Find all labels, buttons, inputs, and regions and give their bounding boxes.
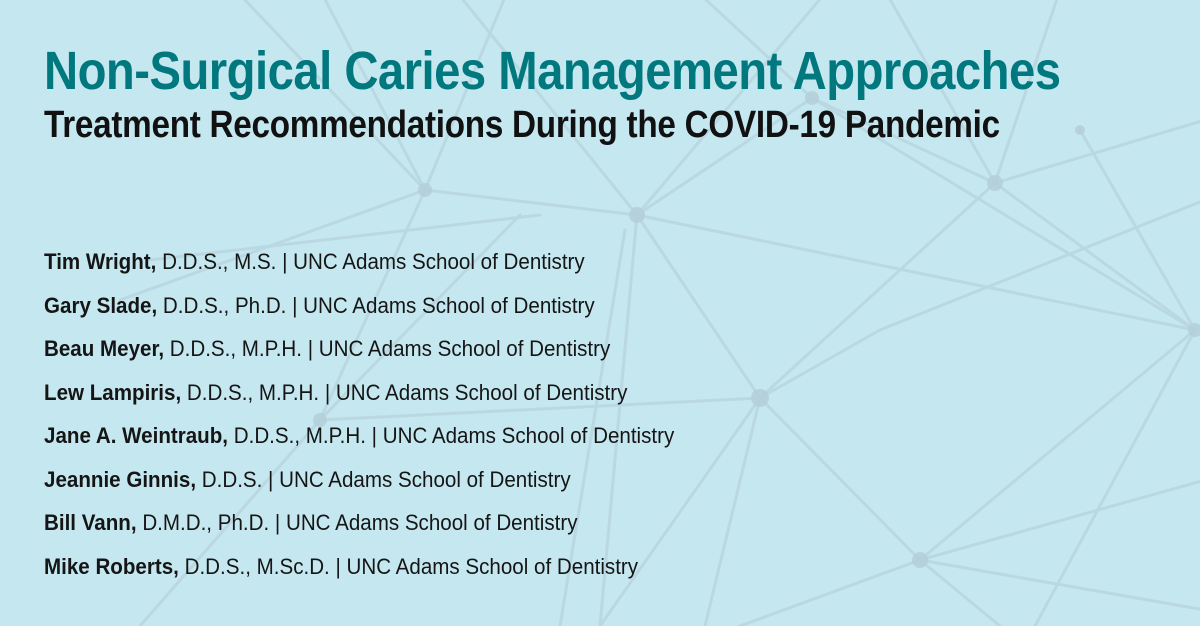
authors-list: Tim Wright, D.D.S., M.S. | UNC Adams Sch… xyxy=(44,240,1144,588)
author-row: Beau Meyer, D.D.S., M.P.H. | UNC Adams S… xyxy=(44,327,1073,371)
author-name: Lew Lampiris, xyxy=(44,380,181,405)
author-credentials: D.D.S., Ph.D. | UNC Adams School of Dent… xyxy=(163,293,595,318)
author-credentials: D.M.D., Ph.D. | UNC Adams School of Dent… xyxy=(142,510,577,535)
author-credentials: D.D.S. | UNC Adams School of Dentistry xyxy=(202,467,571,492)
author-name: Mike Roberts, xyxy=(44,554,179,579)
author-row: Lew Lampiris, D.D.S., M.P.H. | UNC Adams… xyxy=(44,371,1073,415)
author-row: Tim Wright, D.D.S., M.S. | UNC Adams Sch… xyxy=(44,240,1073,284)
author-row: Jeannie Ginnis, D.D.S. | UNC Adams Schoo… xyxy=(44,458,1073,502)
author-row: Gary Slade, D.D.S., Ph.D. | UNC Adams Sc… xyxy=(44,284,1073,328)
author-name: Bill Vann, xyxy=(44,510,137,535)
title-slide: Non-Surgical Caries Management Approache… xyxy=(0,0,1200,626)
author-row: Mike Roberts, D.D.S., M.Sc.D. | UNC Adam… xyxy=(44,545,1073,589)
author-name: Gary Slade, xyxy=(44,293,157,318)
author-credentials: D.D.S., M.S. | UNC Adams School of Denti… xyxy=(162,249,585,274)
author-credentials: D.D.S., M.P.H. | UNC Adams School of Den… xyxy=(187,380,628,405)
author-credentials: D.D.S., M.P.H. | UNC Adams School of Den… xyxy=(234,423,675,448)
author-name: Tim Wright, xyxy=(44,249,156,274)
author-name: Beau Meyer, xyxy=(44,336,164,361)
page-subtitle: Treatment Recommendations During the COV… xyxy=(44,106,1042,146)
author-name: Jeannie Ginnis, xyxy=(44,467,196,492)
page-title: Non-Surgical Caries Management Approache… xyxy=(44,44,1042,100)
author-row: Jane A. Weintraub, D.D.S., M.P.H. | UNC … xyxy=(44,414,1073,458)
author-credentials: D.D.S., M.Sc.D. | UNC Adams School of De… xyxy=(185,554,638,579)
author-credentials: D.D.S., M.P.H. | UNC Adams School of Den… xyxy=(170,336,611,361)
author-name: Jane A. Weintraub, xyxy=(44,423,228,448)
author-row: Bill Vann, D.M.D., Ph.D. | UNC Adams Sch… xyxy=(44,501,1073,545)
title-block: Non-Surgical Caries Management Approache… xyxy=(44,44,1184,146)
slide-content: Non-Surgical Caries Management Approache… xyxy=(0,0,1200,626)
